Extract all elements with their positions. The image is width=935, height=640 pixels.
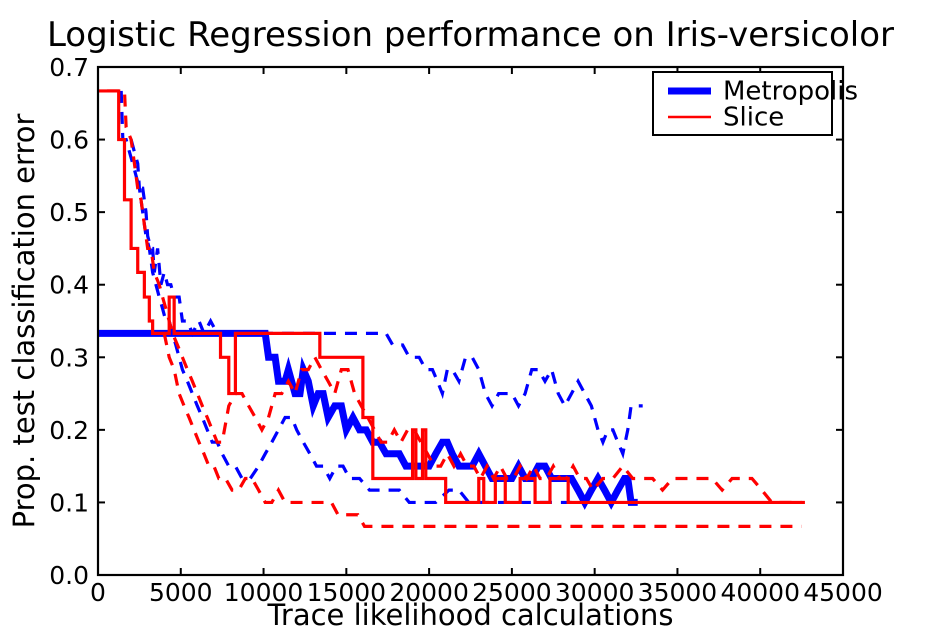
chart-figure: 0500010000150002000025000300003500040000… xyxy=(0,0,935,640)
chart-canvas: 0500010000150002000025000300003500040000… xyxy=(0,0,935,640)
legend[interactable]: MetropolisSlice xyxy=(653,72,858,135)
page-title: Logistic Regression performance on Iris-… xyxy=(47,15,894,55)
y-tick-label: 0.6 xyxy=(49,126,89,155)
y-tick-label: 0.7 xyxy=(49,53,89,82)
legend-label: Slice xyxy=(723,103,784,133)
y-axis-label: Prop. test classification error xyxy=(7,114,41,529)
y-tick-label: 0.1 xyxy=(49,488,89,517)
y-tick-label: 0.4 xyxy=(49,271,89,300)
y-tick-label: 0.0 xyxy=(49,561,89,590)
x-tick-label: 45000 xyxy=(803,578,883,607)
x-axis-label: Trace likelihood calculations xyxy=(266,598,673,632)
x-tick-label: 5000 xyxy=(149,578,213,607)
y-tick-label: 0.3 xyxy=(49,343,89,372)
y-tick-label: 0.5 xyxy=(49,198,89,227)
x-tick-label: 0 xyxy=(90,578,106,607)
y-tick-label: 0.2 xyxy=(49,416,89,445)
x-tick-label: 40000 xyxy=(720,578,800,607)
